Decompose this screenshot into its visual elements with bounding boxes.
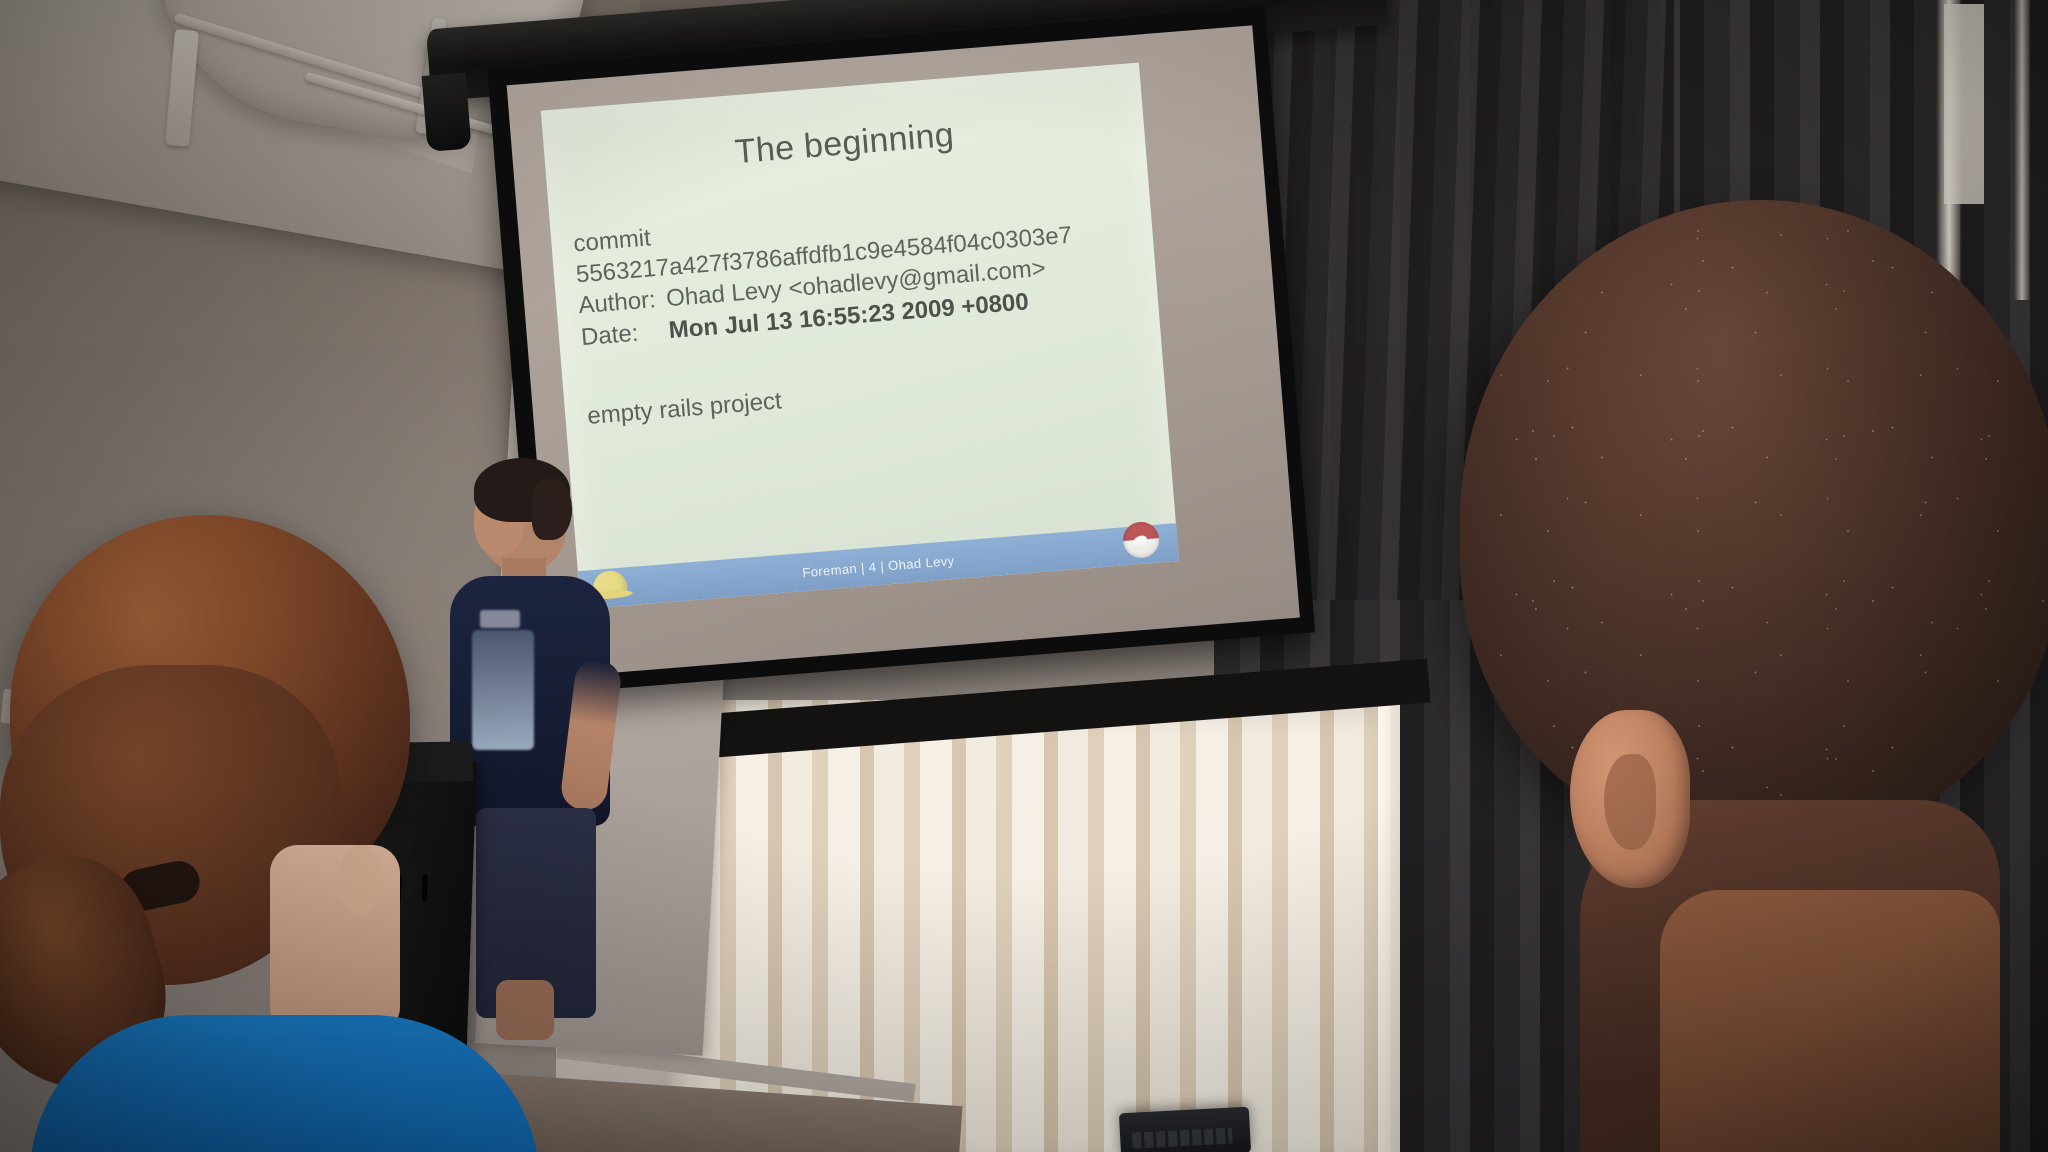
curtain-light-slit: [1378, 700, 1400, 1152]
slide-body: commit 5563217a427f3786affdfb1c9e4584f04…: [572, 183, 1151, 432]
slide-footer-text: Foreman | 4 | Ohad Levy: [802, 553, 955, 580]
presentation-photo-scene: CAMPUS TEL AVIV The beginning commit 556…: [0, 0, 2048, 1152]
slide-footer: Foreman | 4 | Ohad Levy: [578, 523, 1179, 609]
slide-title: The beginning: [544, 100, 1145, 187]
presentation-slide: The beginning commit 5563217a427f3786aff…: [541, 63, 1179, 610]
laptop: [1119, 1107, 1251, 1152]
audience-right-hair-texture: [1470, 210, 2048, 810]
audience-member-left: [0, 515, 530, 1152]
audience-right-ear-inner: [1604, 754, 1656, 850]
audience-right-neck: [1660, 890, 2000, 1152]
audience-member-right: [1430, 200, 2048, 1152]
speaker-hair-back: [532, 478, 572, 540]
audience-left-ear: [338, 845, 382, 915]
laptop-keyboard: [1132, 1128, 1233, 1149]
audience-right-ear: [1570, 710, 1690, 888]
screen-roller-cap: [422, 73, 472, 152]
